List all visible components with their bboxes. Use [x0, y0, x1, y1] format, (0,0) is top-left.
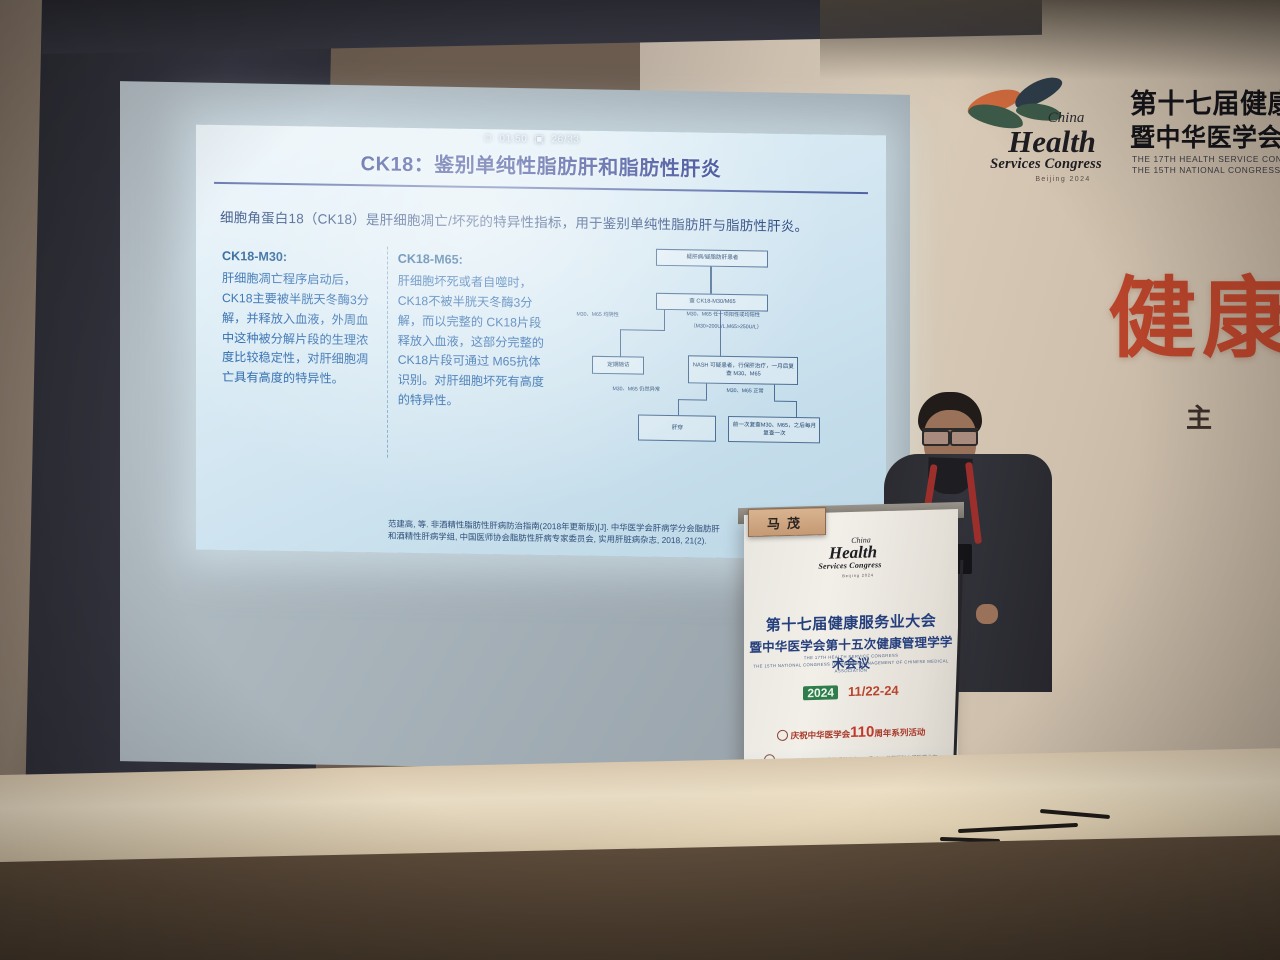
column-ck18-m65: CK18-M65: 肝细胞坏死或者自噬时，CK18不被半胱天冬酶3分解，而以完整… — [392, 245, 563, 461]
flow-connector-bl-a — [706, 384, 707, 400]
flow-connector-left-a — [664, 310, 665, 330]
banner-chinese-line-1: 第十七届健康服 — [1130, 82, 1280, 121]
podium-english-lines: THE 17TH HEALTH SERVICE CONGRESS THE 15T… — [744, 650, 958, 677]
overlay-time: 01:50 — [499, 133, 527, 144]
slide-columns: CK18-M30: 肝细胞凋亡程序启动后，CK18主要被半胱天冬酶3分解，并释放… — [210, 242, 872, 465]
podium-date-year: 2024 — [803, 685, 838, 700]
logo-health-word: Health — [988, 127, 1116, 156]
column-m65-body: 肝细胞坏死或者自噬时，CK18不被半胱天冬酶3分解，而以完整的 CK18片段释放… — [398, 272, 553, 413]
cma-seal-icon — [777, 730, 788, 741]
flow-label-4: M30、M65 正常 — [726, 388, 763, 396]
column-m30-heading: CK18-M30: — [222, 246, 377, 269]
flow-connector-br-c — [796, 401, 797, 417]
podium-logo-city-year: Beijing 2024 — [810, 572, 906, 580]
anniversary-prefix: 庆祝中华医学会 — [791, 729, 851, 741]
conference-stage-photo: ⏱01:50▣26/33 CK18：鉴别单纯性脂肪肝和脂肪性肝炎 细胞角蛋白18… — [0, 0, 1280, 960]
anniversary-number: 110 — [850, 723, 874, 741]
podium-logo: China Health Services Congress Beijing 2… — [794, 534, 906, 579]
podium-date-range: 11/22-24 — [848, 683, 899, 699]
banner-english-line-2: THE 15TH NATIONAL CONGRESS ON HEAL — [1132, 165, 1280, 175]
column-m30-body: 肝细胞凋亡程序启动后，CK18主要被半胱天冬酶3分解，并释放入血液，外周血中这种… — [222, 269, 377, 390]
flow-label-0: M30、M65 均阴性 — [576, 312, 618, 320]
column-divider — [387, 247, 388, 458]
flow-connector-bl-c — [678, 399, 679, 415]
flow-connector-br-a — [774, 385, 775, 401]
column-ck18-m30: CK18-M30: 肝细胞凋亡程序启动后，CK18主要被半胱天冬酶3分解，并释放… — [216, 242, 387, 458]
podium-anniversary: 庆祝中华医学会110周年系列活动 — [744, 721, 958, 744]
flow-connector-bl-b — [678, 399, 707, 400]
flow-label-3: M30、M65 仍然异常 — [612, 386, 660, 395]
flow-node-3: NASH 可疑患者，行保肝治疗，一月后复查 M30、M65 — [688, 355, 798, 385]
capture-overlay: ⏱01:50▣26/33 — [484, 133, 587, 146]
logo-city-year: Beijing 2024 — [1010, 176, 1116, 183]
flow-connector-0 — [710, 267, 712, 294]
podium-logo-services-word: Services Congress — [794, 560, 906, 572]
flow-node-0: 疑肝病/疑脂肪肝患者 — [656, 249, 768, 268]
flow-node-1: 查 CK18-M30/M65 — [656, 293, 768, 312]
congress-banner: China Health Services Congress Beijing 2… — [952, 60, 1280, 225]
overlay-page: 26/33 — [552, 134, 580, 145]
column-m65-heading: CK18-M65: — [398, 249, 553, 272]
banner-chinese-line-2: 暨中华医学会第 — [1130, 118, 1280, 154]
glasses-icon — [922, 428, 978, 441]
flow-node-2: 定期随访 — [592, 356, 644, 375]
flow-connector-left-c — [620, 329, 621, 357]
anniversary-suffix: 周年系列活动 — [874, 727, 925, 738]
flow-node-4: 肝穿 — [638, 415, 716, 442]
presentation-slide: ⏱01:50▣26/33 CK18：鉴别单纯性脂肪肝和脂肪性肝炎 细胞角蛋白18… — [196, 125, 886, 561]
banner-english-line-1: THE 17TH HEALTH SERVICE CONGRESS — [1132, 154, 1280, 164]
slide-citation: 范建高, 等. 非酒精性脂肪性肝病防治指南(2018年更新版)[J]. 中华医学… — [388, 519, 728, 548]
flow-label-1: M30、M65 任一项阳性或均阳性 — [686, 311, 760, 320]
flow-label-2: （M30>200U/L,M65>250U/L） — [690, 323, 762, 332]
diagnostic-flowchart: 疑肝病/疑脂肪肝患者 查 CK18-M30/M65 M30、M65 均阴性 M3… — [568, 245, 866, 465]
wall-headline-chinese: 健康 — [1108, 248, 1280, 375]
logo-services-congress-word: Services Congress — [976, 156, 1116, 173]
congress-logo-text: China Health Services Congress Beijing 2… — [976, 110, 1116, 183]
overlay-clock-icon: ⏱ — [484, 133, 492, 144]
flow-node-5: 前一次复查M30、M65，之后每月复查一次 — [728, 416, 820, 443]
speaker-hand — [976, 604, 998, 624]
wall-subline-chinese: 主 — [1186, 398, 1216, 435]
podium-date: 202411/22-24 — [744, 681, 958, 702]
overlay-pages-icon: ▣ — [534, 134, 544, 145]
flow-connector-br-b — [774, 401, 796, 402]
flow-connector-left-b — [620, 329, 665, 331]
speaker-nameplate: 马茂 — [748, 507, 826, 537]
